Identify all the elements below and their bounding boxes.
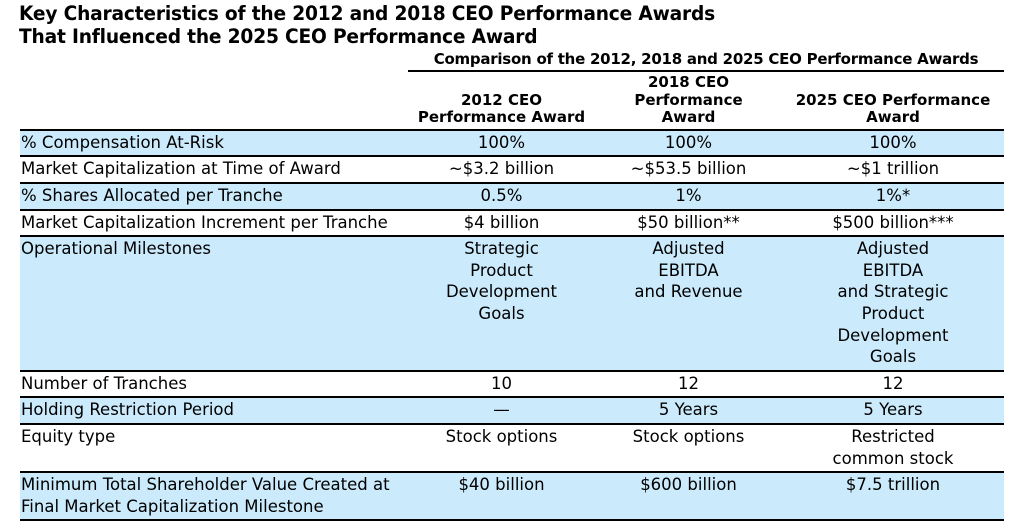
ceo-award-comparison-table: Comparison of the 2012, 2018 and 2025 CE… [20,50,1004,521]
cell-2025: 100% [782,130,1004,157]
table-body: % Compensation At-Risk100%100%100%Market… [20,130,1004,521]
cell-2018-line: 1% [599,185,778,207]
cell-2012-line: 10 [412,373,591,395]
row-label: Equity type [20,424,408,472]
cell-2018-line: and Revenue [599,281,778,303]
group-header-spacer [20,50,408,71]
cell-2025-line: 100% [786,132,1000,154]
cell-2025-line: ~$1 trillion [786,158,1000,180]
cell-2012: StrategicProductDevelopmentGoals [408,236,595,371]
row-label: Number of Tranches [20,371,408,398]
cell-2012: 10 [408,371,595,398]
cell-2012-line: Goals [412,303,591,325]
cell-2012: 0.5% [408,183,595,210]
table-row: Market Capitalization Increment per Tran… [20,210,1004,237]
row-label: Operational Milestones [20,236,408,371]
cell-2025-line: and Strategic [786,281,1000,303]
cell-2012-line: $4 billion [412,212,591,234]
cell-2025-line: 5 Years [786,399,1000,421]
table-row: Minimum Total Shareholder Value Created … [20,472,1004,520]
cell-2018: 5 Years [595,397,782,424]
cell-2025: $7.5 trillion [782,472,1004,520]
table-column-header-row: 2012 CEO Performance Award 2018 CEO Perf… [20,71,1004,130]
cell-2012: — [408,397,595,424]
cell-2025: 1%* [782,183,1004,210]
cell-2018: Stock options [595,424,782,472]
cell-2018: AdjustedEBITDAand Revenue [595,236,782,371]
cell-2025: 12 [782,371,1004,398]
cell-2012: $40 billion [408,472,595,520]
cell-2012-line: — [412,399,591,421]
cell-2012-line: Stock options [412,426,591,448]
cell-2025-line: 1%* [786,185,1000,207]
cell-2018-line: $50 billion** [599,212,778,234]
table-row: Market Capitalization at Time of Award~$… [20,156,1004,183]
cell-2012-line: 100% [412,132,591,154]
cell-2018: 12 [595,371,782,398]
table-row: Number of Tranches101212 [20,371,1004,398]
cell-2025-line: Adjusted [786,238,1000,260]
cell-2012-line: $40 billion [412,474,591,496]
cell-2025-line: Product [786,303,1000,325]
page-root: Key Characteristics of the 2012 and 2018… [0,0,1024,523]
column-header-2025: 2025 CEO Performance Award [782,71,1004,130]
row-label: Minimum Total Shareholder Value Created … [20,472,408,520]
cell-2018: 1% [595,183,782,210]
column-header-2012: 2012 CEO Performance Award [408,71,595,130]
cell-2025-line: $500 billion*** [786,212,1000,234]
table-row: Equity typeStock optionsStock optionsRes… [20,424,1004,472]
cell-2018-line: Stock options [599,426,778,448]
column-header-2018-line-3: Award [597,109,780,127]
table-row: Holding Restriction Period—5 Years5 Year… [20,397,1004,424]
cell-2025-line: $7.5 trillion [786,474,1000,496]
column-header-2025-line-1: 2025 CEO Performance [784,92,1002,110]
column-header-blank [20,71,408,130]
row-label: Holding Restriction Period [20,397,408,424]
cell-2018: 100% [595,130,782,157]
cell-2018: $600 billion [595,472,782,520]
cell-2025: 5 Years [782,397,1004,424]
page-title: Key Characteristics of the 2012 and 2018… [19,3,979,48]
cell-2012: 100% [408,130,595,157]
column-header-2018-line-1: 2018 CEO [597,74,780,92]
table-header: Comparison of the 2012, 2018 and 2025 CE… [20,50,1004,130]
cell-2012-line: Strategic [412,238,591,260]
cell-2018: ~$53.5 billion [595,156,782,183]
column-header-2012-line-1: 2012 CEO [410,92,593,110]
cell-2018-line: Adjusted [599,238,778,260]
cell-2025-line: Development [786,325,1000,347]
cell-2018-line: EBITDA [599,260,778,282]
cell-2025-line: common stock [786,448,1000,470]
table-group-header: Comparison of the 2012, 2018 and 2025 CE… [408,50,1004,71]
comparison-table-container: Comparison of the 2012, 2018 and 2025 CE… [20,50,1004,521]
table-row: % Shares Allocated per Tranche0.5%1%1%* [20,183,1004,210]
table-row: Operational MilestonesStrategicProductDe… [20,236,1004,371]
column-header-2018-line-2: Performance [597,92,780,110]
table-group-header-row: Comparison of the 2012, 2018 and 2025 CE… [20,50,1004,71]
cell-2012: ~$3.2 billion [408,156,595,183]
row-label: % Compensation At-Risk [20,130,408,157]
column-header-2018: 2018 CEO Performance Award [595,71,782,130]
cell-2012-line: 0.5% [412,185,591,207]
cell-2018-line: ~$53.5 billion [599,158,778,180]
cell-2025-line: Restricted [786,426,1000,448]
page-title-line-2: That Influenced the 2025 CEO Performance… [19,26,936,49]
cell-2012: $4 billion [408,210,595,237]
cell-2025: ~$1 trillion [782,156,1004,183]
cell-2012-line: ~$3.2 billion [412,158,591,180]
cell-2025: Restrictedcommon stock [782,424,1004,472]
column-header-2012-line-2: Performance Award [410,109,593,127]
cell-2012-line: Development [412,281,591,303]
cell-2018: $50 billion** [595,210,782,237]
cell-2012: Stock options [408,424,595,472]
cell-2018-line: 5 Years [599,399,778,421]
table-row: % Compensation At-Risk100%100%100% [20,130,1004,157]
row-label: Market Capitalization at Time of Award [20,156,408,183]
cell-2025-line: 12 [786,373,1000,395]
row-label: Market Capitalization Increment per Tran… [20,210,408,237]
cell-2018-line: 12 [599,373,778,395]
column-header-2025-line-2: Award [784,109,1002,127]
cell-2025: $500 billion*** [782,210,1004,237]
row-label: % Shares Allocated per Tranche [20,183,408,210]
cell-2025-line: EBITDA [786,260,1000,282]
page-title-line-1: Key Characteristics of the 2012 and 2018… [19,3,936,26]
cell-2012-line: Product [412,260,591,282]
cell-2025: AdjustedEBITDAand StrategicProductDevelo… [782,236,1004,371]
cell-2018-line: $600 billion [599,474,778,496]
cell-2025-line: Goals [786,346,1000,368]
cell-2018-line: 100% [599,132,778,154]
